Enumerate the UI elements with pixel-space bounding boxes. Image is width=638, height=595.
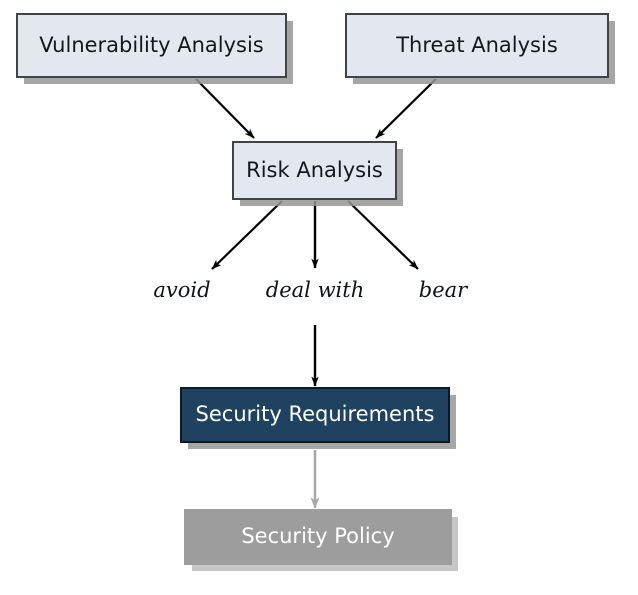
node-vulnerability-analysis[interactable]: Vulnerability Analysis (16, 13, 287, 78)
node-label: Risk Analysis (246, 159, 383, 182)
edge-label-deal-with: deal with (250, 278, 380, 302)
edge-label-avoid: avoid (132, 278, 232, 302)
node-label: Security Requirements (196, 403, 435, 426)
node-threat-analysis[interactable]: Threat Analysis (345, 13, 609, 78)
node-label: Vulnerability Analysis (39, 34, 264, 57)
node-label: Security Policy (241, 525, 394, 548)
diagram-canvas: Vulnerability Analysis Threat Analysis R… (0, 0, 638, 595)
edge-label-bear: bear (395, 278, 491, 302)
node-security-requirements[interactable]: Security Requirements (180, 387, 450, 443)
node-label: Threat Analysis (396, 34, 558, 57)
edge-risk-to-bear (348, 201, 418, 269)
edge-risk-to-avoid (212, 201, 282, 269)
node-security-policy[interactable]: Security Policy (184, 509, 452, 565)
edge-threat-to-risk (376, 79, 436, 138)
edge-vuln-to-risk (196, 79, 254, 138)
node-risk-analysis[interactable]: Risk Analysis (232, 141, 397, 200)
